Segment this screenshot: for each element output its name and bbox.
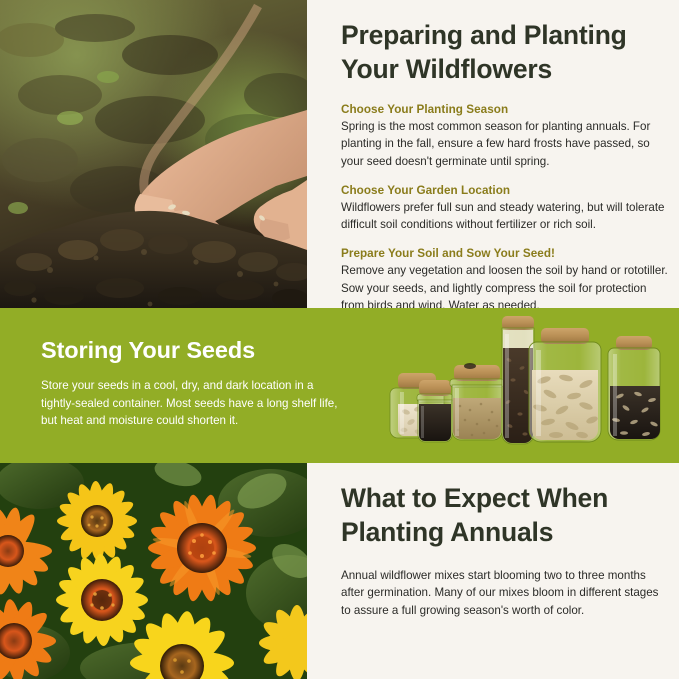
paragraph-planting-season: Spring is the most common season for pla… (341, 118, 668, 171)
expect-paragraph: Annual wildflower mixes start blooming t… (341, 567, 668, 620)
storing-text-column: Storing Your Seeds Store your seeds in a… (41, 337, 346, 430)
subheading-garden-location: Choose Your Garden Location (341, 184, 668, 197)
page-title: Preparing and Planting Your Wildflowers (341, 18, 668, 87)
jars-illustration (380, 308, 679, 463)
storing-title: Storing Your Seeds (41, 337, 346, 364)
jar-6 (608, 336, 660, 440)
expect-text-column: What to Expect When Planting Annuals Ann… (341, 481, 668, 620)
section-what-to-expect: What to Expect When Planting Annuals Ann… (0, 463, 679, 679)
soil-illustration (0, 0, 307, 308)
jar-5 (529, 328, 601, 442)
jar-2 (417, 380, 453, 442)
infographic-page: Preparing and Planting Your Wildflowers … (0, 0, 679, 679)
flowers-image (0, 463, 307, 679)
subheading-planting-season: Choose Your Planting Season (341, 103, 668, 116)
hands-sowing-seeds-image (0, 0, 307, 308)
paragraph-prepare-soil: Remove any vegetation and loosen the soi… (341, 262, 668, 315)
subheading-prepare-soil: Prepare Your Soil and Sow Your Seed! (341, 247, 668, 260)
section-storing-your-seeds: Storing Your Seeds Store your seeds in a… (0, 308, 679, 463)
seed-jars-image (380, 308, 679, 463)
expect-title: What to Expect When Planting Annuals (341, 481, 668, 550)
preparing-text-column: Preparing and Planting Your Wildflowers … (341, 18, 668, 315)
section-preparing-and-planting: Preparing and Planting Your Wildflowers … (0, 0, 679, 308)
storing-paragraph: Store your seeds in a cool, dry, and dar… (41, 377, 346, 430)
paragraph-garden-location: Wildflowers prefer full sun and steady w… (341, 199, 668, 234)
jar-3 (450, 363, 504, 440)
flowers-illustration (0, 463, 307, 679)
